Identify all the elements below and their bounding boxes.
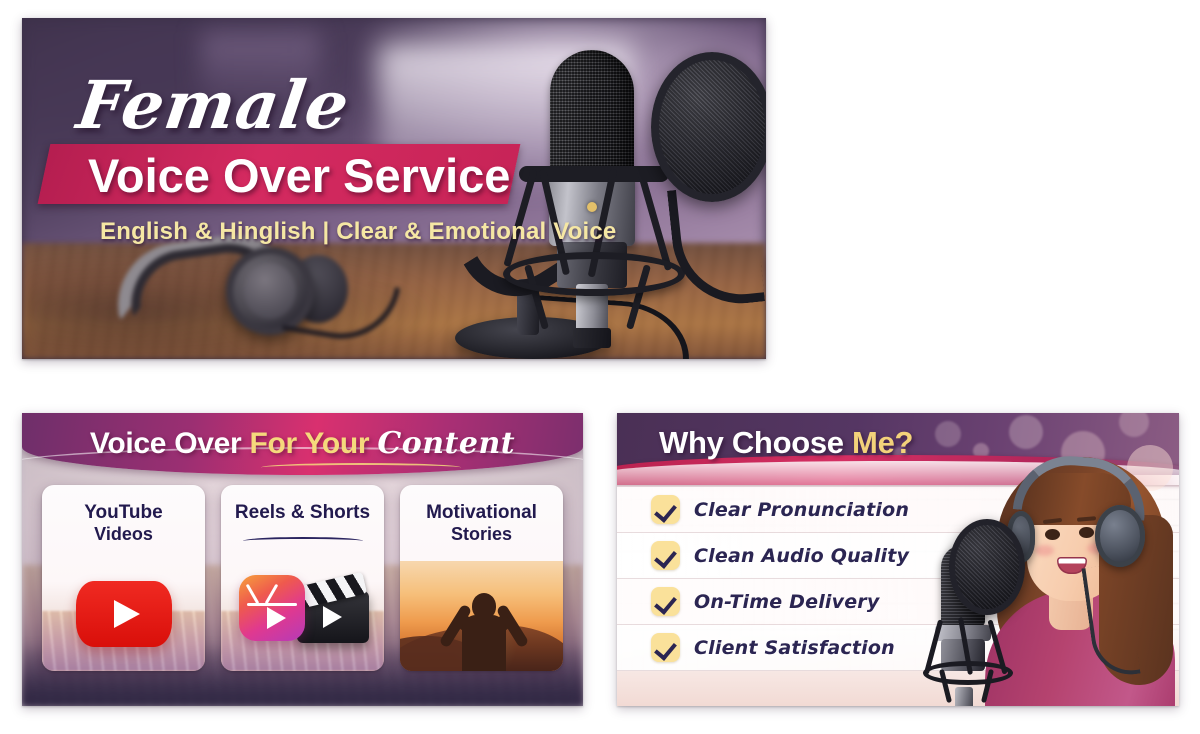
raised-arms-figure xyxy=(436,585,532,671)
clapperboard-icon[interactable] xyxy=(297,591,369,643)
card-title-underline xyxy=(243,537,363,545)
checkmark-icon xyxy=(651,541,680,570)
why-choose-panel[interactable]: Why Choose Me? Clear Pronunciation Clean… xyxy=(617,413,1179,706)
blush-left xyxy=(1035,545,1054,556)
service-card-motivational[interactable]: Motivational Stories xyxy=(400,485,563,671)
banner-subtitle: English & Hinglish | Clear & Emotional V… xyxy=(100,218,616,246)
why-choose-title: Why Choose Me? xyxy=(659,425,913,461)
card-title-line1: YouTube xyxy=(84,502,162,523)
card-title-line1: Reels & Shorts xyxy=(235,502,370,523)
banner-title-main: Voice Over Service xyxy=(88,148,510,203)
woman-with-headphones-icon xyxy=(923,439,1179,706)
service-card-youtube[interactable]: YouTube Videos xyxy=(42,485,205,671)
youtube-play-icon[interactable] xyxy=(76,581,172,647)
eye-right xyxy=(1079,527,1094,538)
list-item-label: On-Time Delivery xyxy=(694,591,879,613)
title-underline xyxy=(261,463,461,472)
banner-title-script: Female xyxy=(73,66,355,144)
headphone-cup-right xyxy=(1095,505,1145,567)
service-cards-row: YouTube Videos Reels & Shorts Mot xyxy=(22,485,583,685)
pop-filter-icon xyxy=(949,519,1025,615)
card-title: Reels & Shorts xyxy=(221,501,384,524)
title-segment-1: Why Choose xyxy=(659,425,852,460)
sunset-silhouette-icon xyxy=(400,561,563,671)
card-title-line1: Motivational xyxy=(426,502,537,523)
list-item-label: Clear Pronunciation xyxy=(694,499,909,521)
card-title-line2: Stories xyxy=(406,524,557,546)
card-title: Motivational Stories xyxy=(400,501,563,546)
mic-stem xyxy=(955,687,973,706)
title-segment-1: Voice Over xyxy=(90,427,250,460)
title-segment-2: For Your xyxy=(249,427,377,460)
studio-microphone-icon xyxy=(923,521,1015,706)
card-title: YouTube Videos xyxy=(42,501,205,546)
checkmark-icon xyxy=(651,633,680,662)
title-segment-2: Me? xyxy=(852,425,913,460)
checkmark-icon xyxy=(651,587,680,616)
card-title-line2: Videos xyxy=(48,524,199,546)
banner-text-block: Female Voice Over Service English & Hing… xyxy=(22,18,766,359)
reels-icons-group xyxy=(235,569,371,655)
services-panel[interactable]: Voice Over For Your Content YouTube Vide… xyxy=(22,413,583,706)
bokeh-circle xyxy=(1119,413,1149,437)
eye-left xyxy=(1045,529,1060,540)
services-panel-title: Voice Over For Your Content xyxy=(22,426,583,461)
main-banner[interactable]: Female Voice Over Service English & Hing… xyxy=(22,18,766,359)
list-item-label: Client Satisfaction xyxy=(694,637,895,659)
instagram-reels-icon[interactable] xyxy=(239,575,305,641)
title-segment-3: Content xyxy=(377,426,515,461)
shock-mount-icon xyxy=(923,617,1013,697)
checkmark-icon xyxy=(651,495,680,524)
service-card-reels[interactable]: Reels & Shorts xyxy=(221,485,384,671)
list-item-label: Clean Audio Quality xyxy=(694,545,909,567)
